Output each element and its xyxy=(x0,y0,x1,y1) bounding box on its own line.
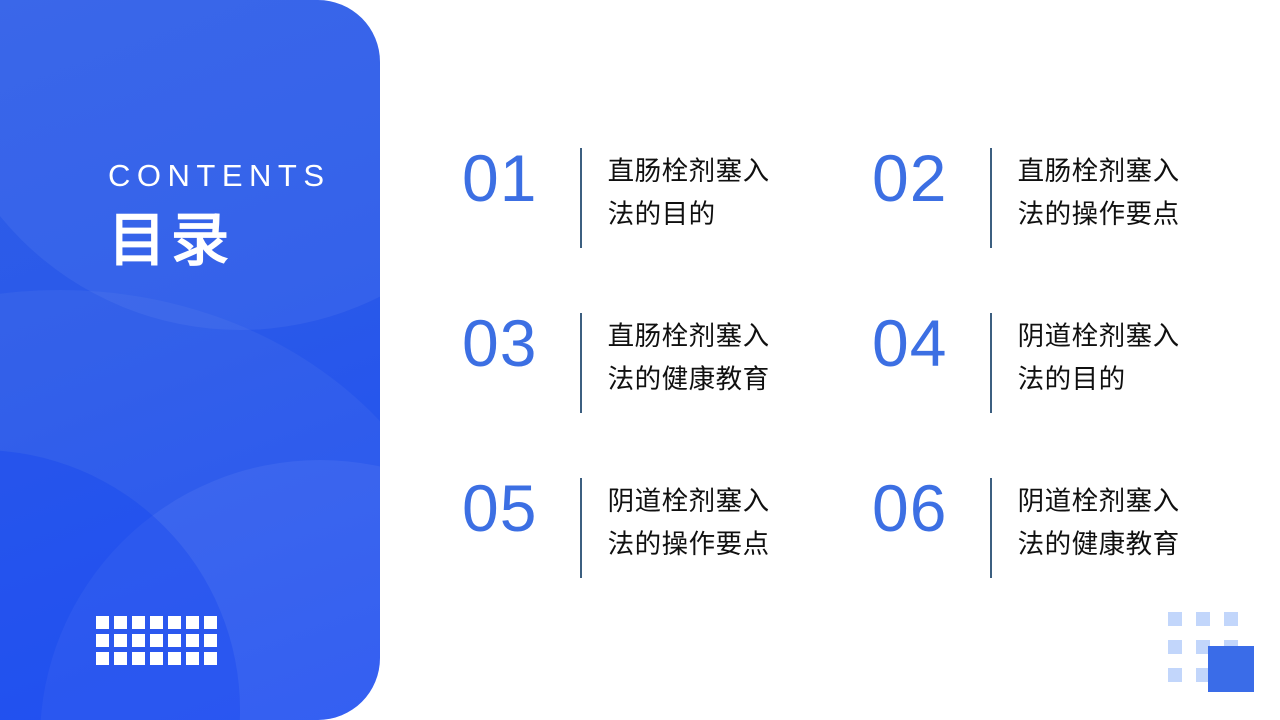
toc-label-04: 阴道栓剂塞入 法的目的 xyxy=(1018,311,1180,401)
panel-dot-grid-decoration xyxy=(96,616,217,665)
contents-english-title: CONTENTS xyxy=(108,160,331,191)
dot-grid-cell xyxy=(186,616,199,629)
dot-grid-cell xyxy=(204,652,217,665)
dot-grid-cell xyxy=(1168,640,1182,654)
dot-grid-cell xyxy=(1224,612,1238,626)
dot-grid-cell xyxy=(132,616,145,629)
toc-number-05: 05 xyxy=(462,476,580,541)
toc-divider-03 xyxy=(580,313,582,413)
toc-item-05[interactable]: 05 阴道栓剂塞入 法的操作要点 xyxy=(462,476,872,641)
toc-divider-02 xyxy=(990,148,992,248)
toc-item-03[interactable]: 03 直肠栓剂塞入 法的健康教育 xyxy=(462,311,872,476)
toc-number-06: 06 xyxy=(872,476,990,541)
dot-grid-cell xyxy=(132,652,145,665)
dot-grid-cell xyxy=(132,634,145,647)
toc-label-05: 阴道栓剂塞入 法的操作要点 xyxy=(608,476,770,566)
left-blue-panel xyxy=(0,0,380,720)
toc-number-02: 02 xyxy=(872,146,990,211)
dot-grid-cell xyxy=(204,616,217,629)
toc-divider-01 xyxy=(580,148,582,248)
dot-grid-cell xyxy=(150,652,163,665)
dot-grid-cell xyxy=(96,616,109,629)
contents-chinese-title: 目录 xyxy=(108,211,331,272)
dot-grid-cell xyxy=(114,616,127,629)
toc-item-01[interactable]: 01 直肠栓剂塞入 法的目的 xyxy=(462,146,872,311)
dot-grid-cell xyxy=(114,652,127,665)
dot-grid-cell xyxy=(168,652,181,665)
toc-label-06: 阴道栓剂塞入 法的健康教育 xyxy=(1018,476,1180,566)
dot-grid-cell xyxy=(186,634,199,647)
dot-grid-cell xyxy=(150,634,163,647)
toc-number-04: 04 xyxy=(872,311,990,376)
toc-label-01: 直肠栓剂塞入 法的目的 xyxy=(608,146,770,236)
slide-canvas: CONTENTS 目录 01 直肠栓剂塞入 法的目的 02 直肠栓剂塞入 法的操… xyxy=(0,0,1280,720)
toc-item-02[interactable]: 02 直肠栓剂塞入 法的操作要点 xyxy=(872,146,1252,311)
toc-label-02: 直肠栓剂塞入 法的操作要点 xyxy=(1018,146,1180,236)
dot-grid-cell xyxy=(150,616,163,629)
dot-grid-cell xyxy=(96,634,109,647)
dot-grid-cell xyxy=(1168,668,1182,682)
toc-item-04[interactable]: 04 阴道栓剂塞入 法的目的 xyxy=(872,311,1252,476)
dot-grid-cell xyxy=(114,634,127,647)
dot-grid-cell xyxy=(186,652,199,665)
dot-grid-cell xyxy=(168,616,181,629)
toc-label-03: 直肠栓剂塞入 法的健康教育 xyxy=(608,311,770,401)
toc-divider-06 xyxy=(990,478,992,578)
dot-grid-cell xyxy=(204,634,217,647)
toc-divider-04 xyxy=(990,313,992,413)
toc-divider-05 xyxy=(580,478,582,578)
decoration-solid-square xyxy=(1208,646,1254,692)
toc-number-03: 03 xyxy=(462,311,580,376)
bottom-right-decoration xyxy=(1168,612,1280,690)
dot-grid-cell xyxy=(96,652,109,665)
toc-number-01: 01 xyxy=(462,146,580,211)
dot-grid-cell xyxy=(168,634,181,647)
panel-heading-group: CONTENTS 目录 xyxy=(108,160,331,272)
dot-grid-cell xyxy=(1168,612,1182,626)
table-of-contents-grid: 01 直肠栓剂塞入 法的目的 02 直肠栓剂塞入 法的操作要点 03 直肠栓剂塞… xyxy=(462,146,1252,641)
dot-grid-cell xyxy=(1196,612,1210,626)
